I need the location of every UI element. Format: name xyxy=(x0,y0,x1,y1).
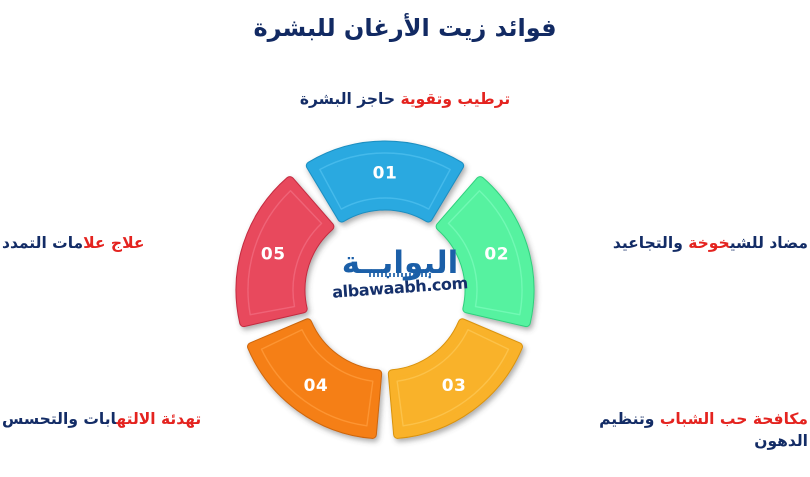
label-03-part-1: الدهون xyxy=(754,432,808,450)
label-05-part-1: علاج علا xyxy=(83,234,144,252)
label-04-part-2: ابات والتحسس xyxy=(2,410,116,428)
label-03-part-1: مكافحة حب الشباب xyxy=(654,410,808,428)
segment-number-03: 03 xyxy=(442,376,467,396)
label-02-part-1: مضاد للشي xyxy=(730,234,808,252)
label-01-part-1: ترطيب وتقوية xyxy=(395,90,510,108)
donut-segments xyxy=(240,145,530,434)
segment-label-02: مضاد للشيخوخة والتجاعيد xyxy=(430,232,810,254)
donut-svg: 0102030405 xyxy=(190,125,580,455)
label-05-part-2: مات التمدد xyxy=(2,234,83,252)
segment-label-05: علاج علامات التمدد xyxy=(2,232,220,254)
label-02-part-2: خوخة xyxy=(688,234,729,252)
infographic-canvas: فوائد زيت الأرغان للبشرة 0102030405 البو… xyxy=(0,0,810,477)
segment-label-01: ترطيب وتقوية حاجز البشرة xyxy=(0,88,810,110)
segment-label-03: مكافحة حب الشباب وتنظيمالدهون xyxy=(430,408,810,453)
label-01-part-2: حاجز البشرة xyxy=(300,90,395,108)
segment-number-01: 01 xyxy=(373,164,398,184)
segment-number-04: 04 xyxy=(304,376,329,396)
page-title: فوائد زيت الأرغان للبشرة xyxy=(0,14,810,42)
segment-number-05: 05 xyxy=(261,245,286,265)
label-04-part-1: تهدئة الالته xyxy=(116,410,201,428)
label-02-part-3: والتجاعيد xyxy=(613,234,688,252)
label-03-part-2: وتنظيم xyxy=(599,410,654,428)
segment-label-04: تهدئة الالتهابات والتحسس xyxy=(2,408,264,430)
donut-chart: 0102030405 xyxy=(190,125,580,455)
